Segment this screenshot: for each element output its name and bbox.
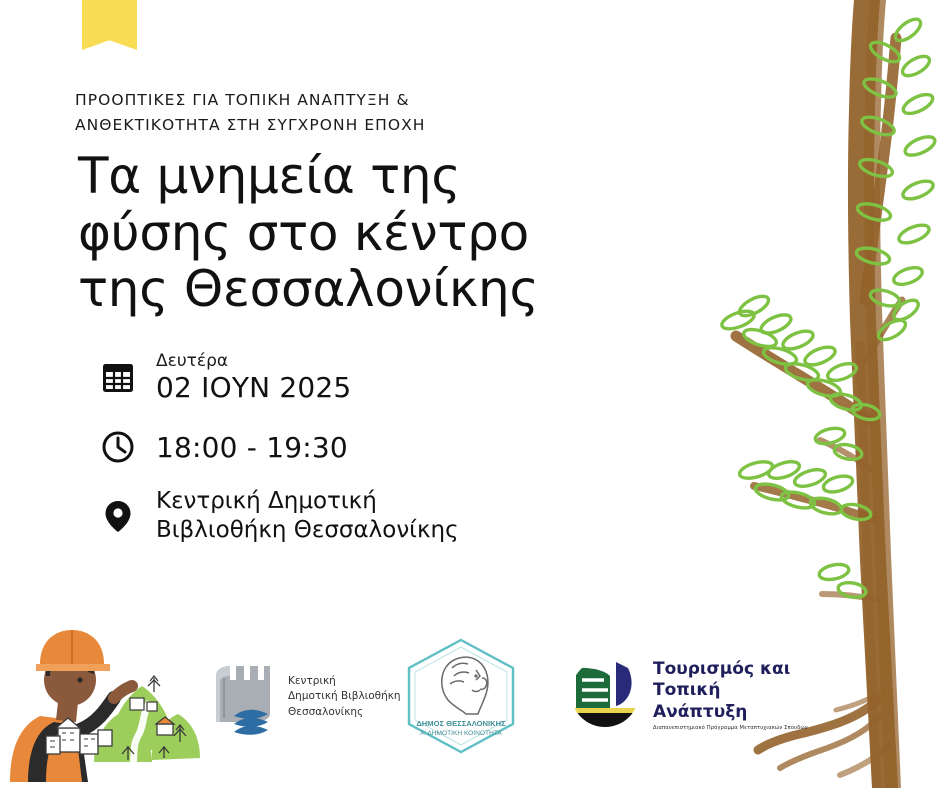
event-time: 18:00 - 19:30 bbox=[146, 431, 348, 464]
tourism-logo-line-2: Τοπική Ανάπτυξη bbox=[653, 680, 808, 722]
urban-planner-illustration bbox=[2, 602, 202, 782]
location-pin-icon bbox=[100, 498, 146, 534]
library-logo-line-3: Θεσσαλονίκης bbox=[288, 705, 401, 720]
municipality-logo-line-1: ΔΗΜΟΣ ΘΕΣΣΑΛΟΝΙΚΗΣ bbox=[416, 719, 506, 728]
tourism-logo-line-1: Τουρισμός και bbox=[653, 659, 808, 680]
title-line-2: φύσης στο κέντρο bbox=[78, 205, 698, 262]
kicker-text: ΠΡΟΟΠΤΙΚΕΣ ΓΙΑ ΤΟΠΙΚΗ ΑΝΑΠΤΥΞΗ & ΑΝΘΕΚΤΙ… bbox=[75, 88, 635, 138]
kicker-line-1: ΠΡΟΟΠΤΙΚΕΣ ΓΙΑ ΤΟΠΙΚΗ ΑΝΑΠΤΥΞΗ & bbox=[75, 88, 635, 113]
clock-icon bbox=[100, 429, 146, 465]
calendar-icon bbox=[100, 360, 146, 396]
event-date: 02 ΙΟΥΝ 2025 bbox=[156, 372, 351, 403]
event-venue-line-2: Βιβλιοθήκη Θεσσαλονίκης bbox=[156, 516, 459, 545]
event-time-row: 18:00 - 19:30 bbox=[100, 429, 620, 465]
logo-row: Κεντρική Δημοτική Βιβλιοθήκη Θεσσαλονίκη… bbox=[208, 640, 808, 756]
event-details: Δευτέρα 02 ΙΟΥΝ 2025 18:00 - 19:30 Κεντρ… bbox=[100, 352, 620, 568]
alexander-hexagon-icon: ΔΗΜΟΣ ΘΕΣΣΑΛΟΝΙΚΗΣ Α' ΔΗΜΟΤΙΚΗ ΚΟΙΝΟΤΗΤΑ bbox=[396, 634, 526, 762]
tourism-logo-subtitle: Διαπανεπιστημιακό Πρόγραμμα Μεταπτυχιακώ… bbox=[653, 725, 808, 731]
library-logo-line-1: Κεντρική bbox=[288, 674, 401, 689]
library-logo-line-2: Δημοτική Βιβλιοθήκη bbox=[288, 689, 401, 704]
municipality-thessaloniki-logo: ΔΗΜΟΣ ΘΕΣΣΑΛΟΝΙΚΗΣ Α' ΔΗΜΟΤΙΚΗ ΚΟΙΝΟΤΗΤΑ bbox=[396, 634, 526, 762]
event-venue-row: Κεντρική Δημοτική Βιβλιοθήκη Θεσσαλονίκη… bbox=[100, 487, 620, 546]
bookmark-ribbon bbox=[82, 0, 137, 50]
kicker-line-2: ΑΝΘΕΚΤΙΚΟΤΗΤΑ ΣΤΗ ΣΥΓΧΡΟΝΗ ΕΠΟΧΗ bbox=[75, 113, 635, 138]
event-venue-line-1: Κεντρική Δημοτική bbox=[156, 487, 459, 516]
municipality-logo-line-2: Α' ΔΗΜΟΤΙΚΗ ΚΟΙΝΟΤΗΤΑ bbox=[420, 730, 502, 737]
event-date-row: Δευτέρα 02 ΙΟΥΝ 2025 bbox=[100, 352, 620, 403]
circle-sail-icon bbox=[566, 654, 644, 736]
event-weekday: Δευτέρα bbox=[156, 352, 351, 371]
central-municipal-library-logo: Κεντρική Δημοτική Βιβλιοθήκη Θεσσαλονίκη… bbox=[208, 654, 401, 740]
book-waves-icon bbox=[208, 654, 282, 740]
page-title: Τα μνημεία της φύσης στο κέντρο της Θεσσ… bbox=[78, 148, 698, 318]
title-line-1: Τα μνημεία της bbox=[78, 148, 698, 205]
title-line-3: της Θεσσαλονίκης bbox=[78, 261, 698, 318]
tourism-local-development-logo: Τουρισμός και Τοπική Ανάπτυξη Διαπανεπισ… bbox=[566, 654, 808, 736]
